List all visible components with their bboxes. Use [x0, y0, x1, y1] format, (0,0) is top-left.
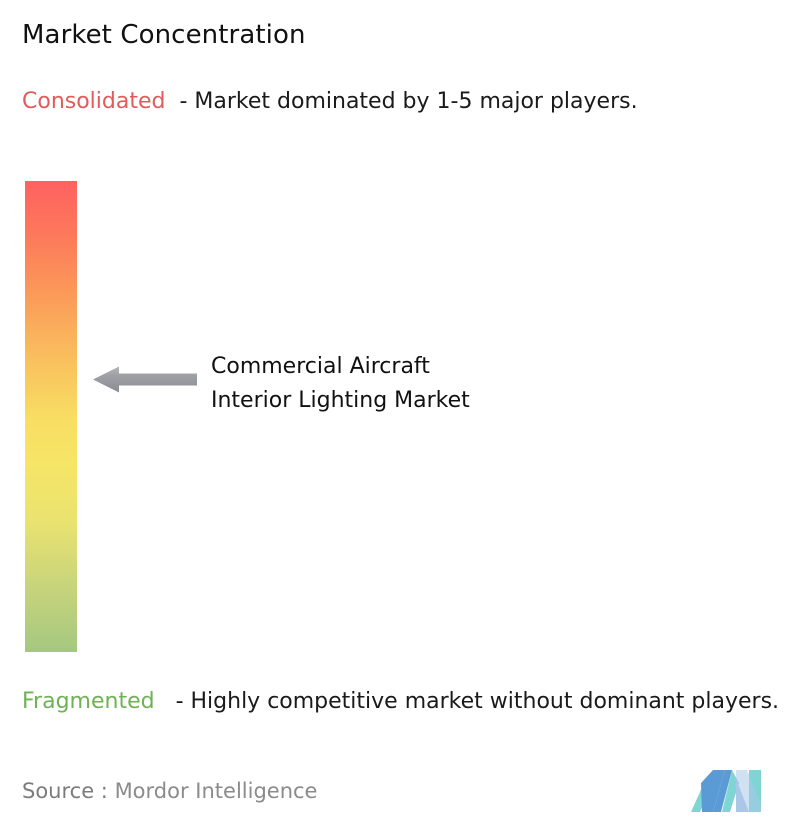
legend-description-consolidated: - Market dominated by 1-5 major players. — [179, 89, 637, 114]
source-label: Source : — [22, 779, 108, 803]
legend-separator-bottom — [155, 689, 176, 714]
source-name: Mordor Intelligence — [108, 779, 318, 803]
source-credit: Source : Mordor Intelligence — [22, 779, 317, 803]
legend-term-consolidated: Consolidated — [22, 89, 165, 114]
legend-consolidated: Consolidated - Market dominated by 1-5 m… — [22, 86, 778, 117]
market-concentration-gradient-bar — [25, 181, 77, 652]
mordor-intelligence-logo-icon — [691, 769, 765, 812]
legend-fragmented: Fragmented - Highly competitive market w… — [22, 686, 788, 717]
legend-description-fragmented: - Highly competitive market without domi… — [176, 689, 779, 714]
legend-term-fragmented: Fragmented — [22, 689, 155, 714]
callout-market-label: Commercial Aircraft Interior Lighting Ma… — [211, 350, 470, 418]
legend-separator-top — [165, 89, 179, 114]
page-title: Market Concentration — [22, 20, 306, 50]
left-arrow-icon — [93, 366, 197, 393]
